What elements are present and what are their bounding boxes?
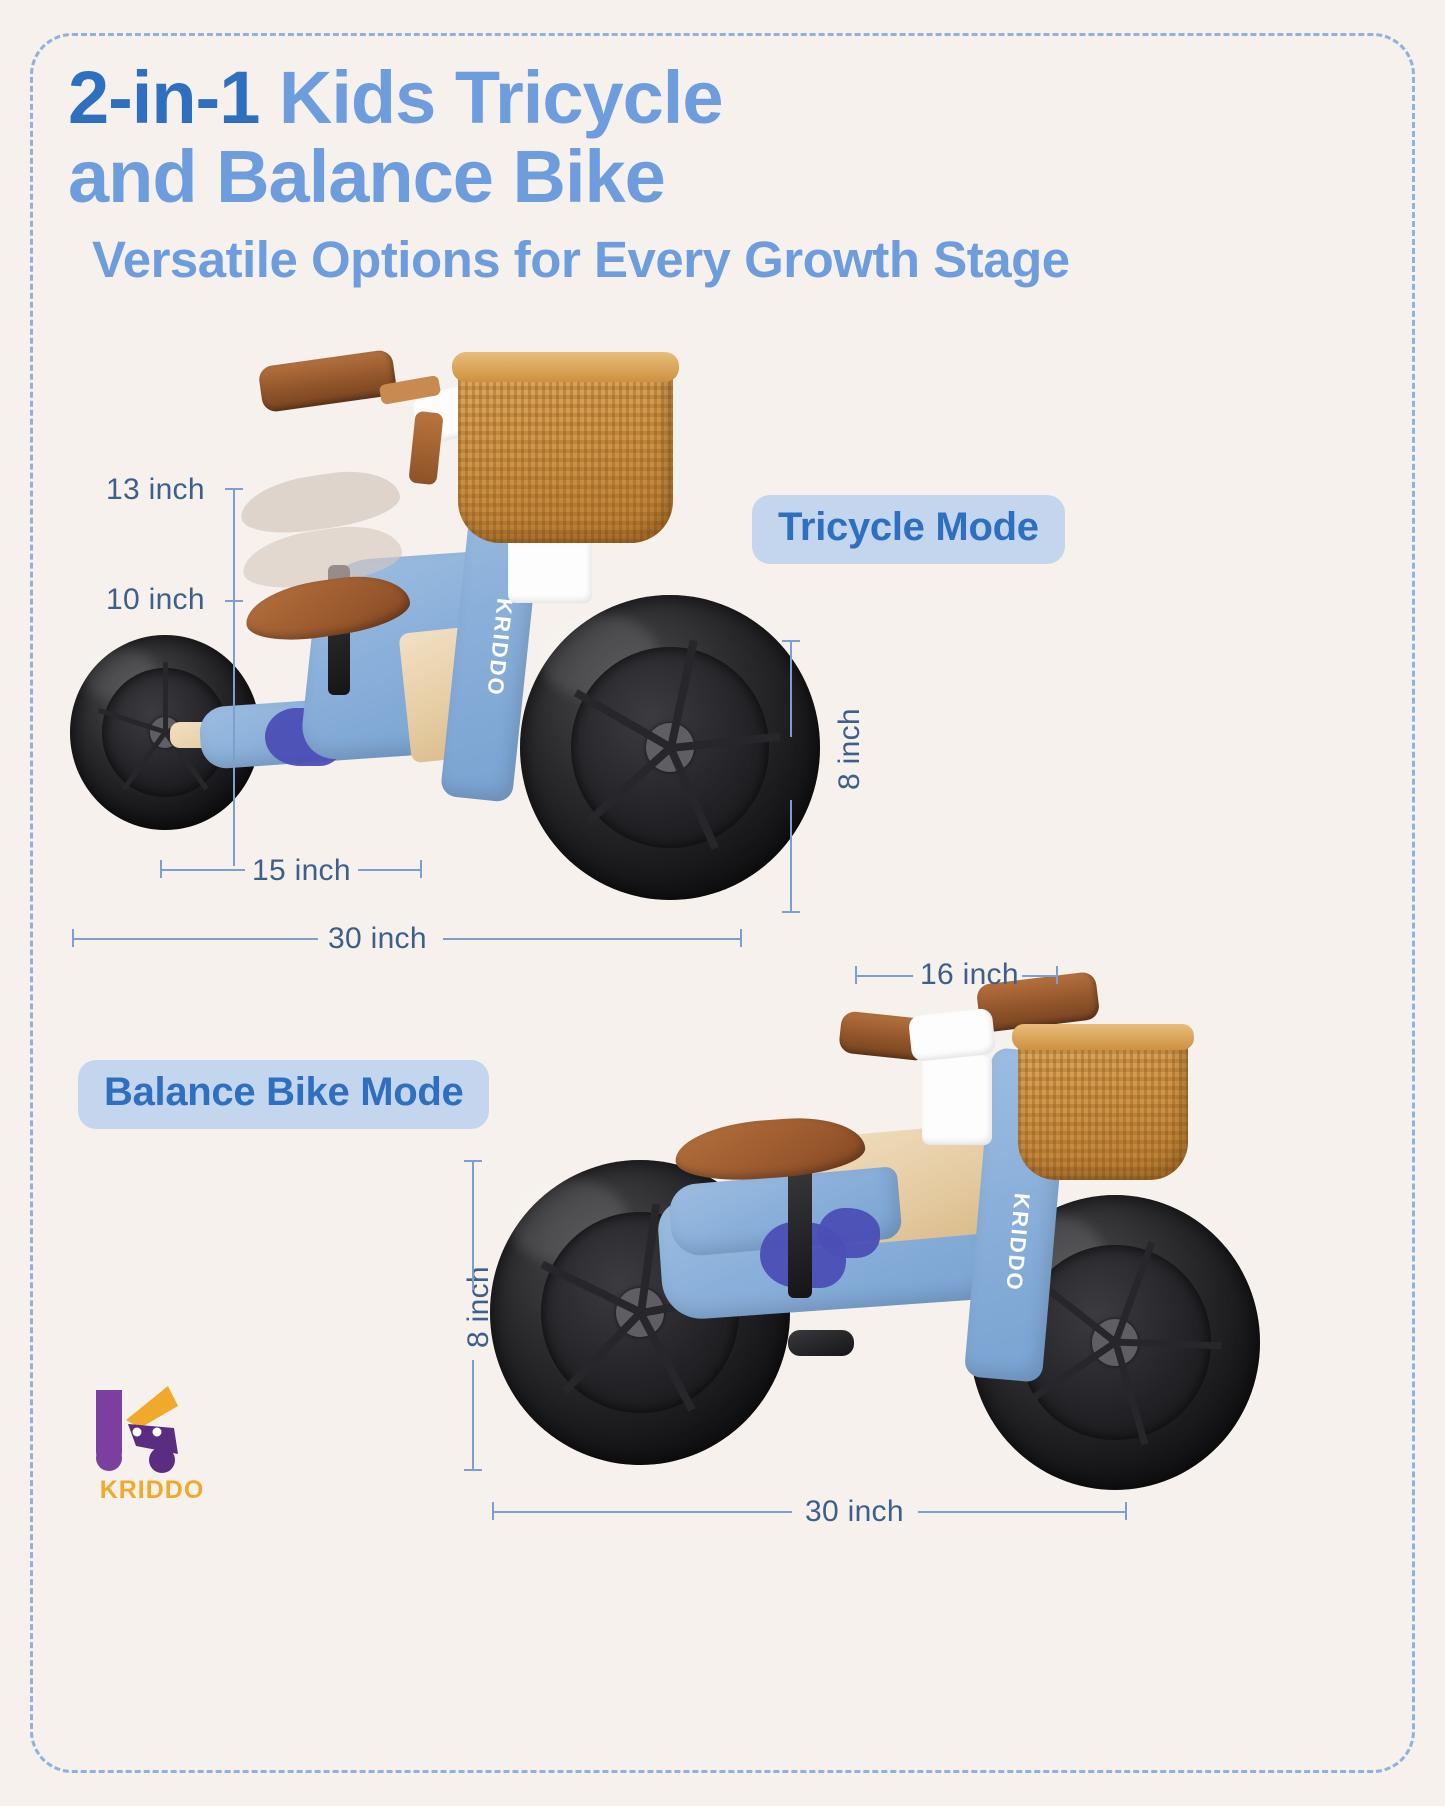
balance-dim-16-cap-right [1056,966,1058,984]
tricycle-dim-8-line-top [790,640,792,737]
balance-dim-8-cap-bottom [464,1469,482,1471]
tricycle-dim-8-line-bottom [790,800,792,912]
tricycle-front-basket [458,358,673,543]
page-heading: 2-in-1 Kids Tricycle and Balance Bike Ve… [68,62,1268,289]
tricycle-dim-30-cap-right [740,929,742,947]
tricycle-handle-grip [257,349,397,413]
wheel-spoke [163,662,168,732]
balance-dim-16inch: 16 inch [920,958,1019,992]
balance-white-connector [922,1055,992,1145]
balance-dim-30-cap-right [1125,1502,1127,1520]
balance-bike-illustration: KRIDDO [470,960,1370,1520]
tricycle-dim-15-line-left [160,869,245,871]
tricycle-dim-8inch: 8 inch [833,708,867,790]
infographic-page: 2-in-1 Kids Tricycle and Balance Bike Ve… [0,0,1445,1806]
balance-dim-16-line-left [855,975,913,977]
balance-dim-8-cap-top [464,1160,482,1162]
balance-dim-8-line-bottom [472,1360,474,1470]
balance-handlebar-stem [908,1008,996,1063]
tricycle-dim-30-cap-left [72,929,74,947]
balance-footrest-peg [788,1330,854,1356]
badge-balance-bike-mode: Balance Bike Mode [78,1060,489,1129]
kriddo-logo: KRIDDO [82,1380,222,1510]
tricycle-dim-10-cap [225,600,243,602]
balance-front-basket [1018,1030,1188,1180]
tricycle-dim-15-cap-right [420,860,422,878]
basket-strap [408,411,443,486]
title-highlight: 2-in-1 [68,56,259,139]
kriddo-logo-text: KRIDDO [82,1476,222,1505]
title-line-1-rest: Kids Tricycle [259,56,722,139]
tricycle-dim-10inch: 10 inch [106,583,205,617]
page-subtitle: Versatile Options for Every Growth Stage [92,230,1268,289]
badge-tricycle-mode: Tricycle Mode [752,495,1065,564]
tricycle-dim-13inch: 13 inch [106,473,205,507]
title-line-1: 2-in-1 Kids Tricycle [68,62,1268,135]
tricycle-dim-30-line-left [72,938,318,940]
balance-dim-30-cap-left [492,1502,494,1520]
tricycle-dim-8-cap-top [782,640,800,642]
title-line-2: and Balance Bike [68,137,1268,217]
balance-dim-16-line-right [1022,975,1056,977]
balance-dim-16-cap-left [855,966,857,984]
basket-rim [452,352,679,382]
balance-dim-8-line-top [472,1160,474,1290]
tricycle-dim-15inch: 15 inch [252,854,351,888]
tricycle-front-wheel [520,595,820,900]
tricycle-dim-15-cap-left [160,860,162,878]
tricycle-dim-8-cap-bottom [782,911,800,913]
tricycle-dim-vertical-line [233,488,235,866]
balance-dim-30-line-left [492,1511,792,1513]
balance-dim-30-line-right [918,1511,1125,1513]
balance-seat-post [788,1158,812,1298]
seat-position-high-ghost [237,464,403,540]
tricycle-dim-30inch: 30 inch [328,922,427,956]
kriddo-logo-mark [82,1380,222,1475]
tricycle-dim-30-line-right [443,938,740,940]
tricycle-dim-15-line-right [358,869,420,871]
balance-dim-8inch: 8 inch [462,1266,496,1348]
basket-rim [1012,1024,1194,1050]
balance-dim-30inch: 30 inch [805,1495,904,1529]
dino-decal-head [818,1208,880,1258]
tricycle-illustration: KRIDDO [60,340,850,920]
